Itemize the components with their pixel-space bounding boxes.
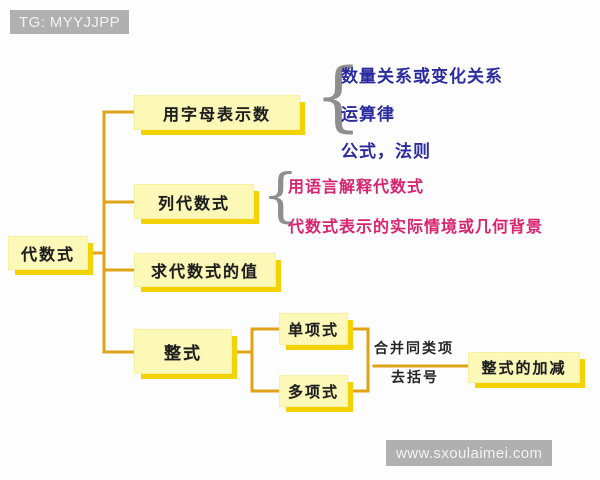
connector-lines bbox=[0, 0, 600, 480]
node-branch-letters-label: 用字母表示数 bbox=[163, 101, 271, 125]
node-add-subtract-polynomials-label: 整式的加减 bbox=[481, 357, 566, 378]
edge-label-combine-like-terms: 合并同类项 bbox=[374, 338, 454, 358]
node-branch-evaluate[interactable]: 求代数式的值 bbox=[134, 253, 276, 287]
leaf-quantity-relation: 数量关系或变化关系 bbox=[341, 62, 503, 87]
leaf-real-context-geometry: 代数式表示的实际情境或几何背景 bbox=[288, 213, 543, 237]
node-monomial[interactable]: 单项式 bbox=[279, 313, 348, 345]
node-add-subtract-polynomials[interactable]: 整式的加减 bbox=[468, 352, 580, 383]
node-monomial-label: 单项式 bbox=[288, 319, 339, 340]
node-branch-evaluate-label: 求代数式的值 bbox=[151, 258, 259, 282]
node-branch-polynomial-group-label: 整式 bbox=[164, 339, 202, 364]
node-branch-polynomial-group[interactable]: 整式 bbox=[134, 329, 232, 374]
leaf-explain-with-language: 用语言解释代数式 bbox=[288, 173, 424, 197]
watermark-bottom: www.sxoulaimei.com bbox=[386, 440, 552, 466]
node-branch-letters[interactable]: 用字母表示数 bbox=[134, 95, 300, 130]
mindmap-canvas: 代数式 用字母表示数 列代数式 求代数式的值 整式 单项式 多项式 整式的加减 … bbox=[0, 0, 600, 480]
node-branch-write-expression-label: 列代数式 bbox=[158, 190, 230, 214]
node-polynomial-label: 多项式 bbox=[288, 381, 339, 402]
leaf-operation-law: 运算律 bbox=[341, 100, 395, 125]
leaf-formula-rule: 公式，法则 bbox=[341, 137, 431, 162]
watermark-top: TG: MYYJJPP bbox=[10, 10, 129, 34]
edge-label-remove-brackets: 去括号 bbox=[391, 367, 439, 387]
node-root[interactable]: 代数式 bbox=[8, 236, 88, 270]
node-branch-write-expression[interactable]: 列代数式 bbox=[134, 184, 254, 219]
node-polynomial[interactable]: 多项式 bbox=[279, 375, 348, 407]
node-root-label: 代数式 bbox=[21, 241, 75, 265]
